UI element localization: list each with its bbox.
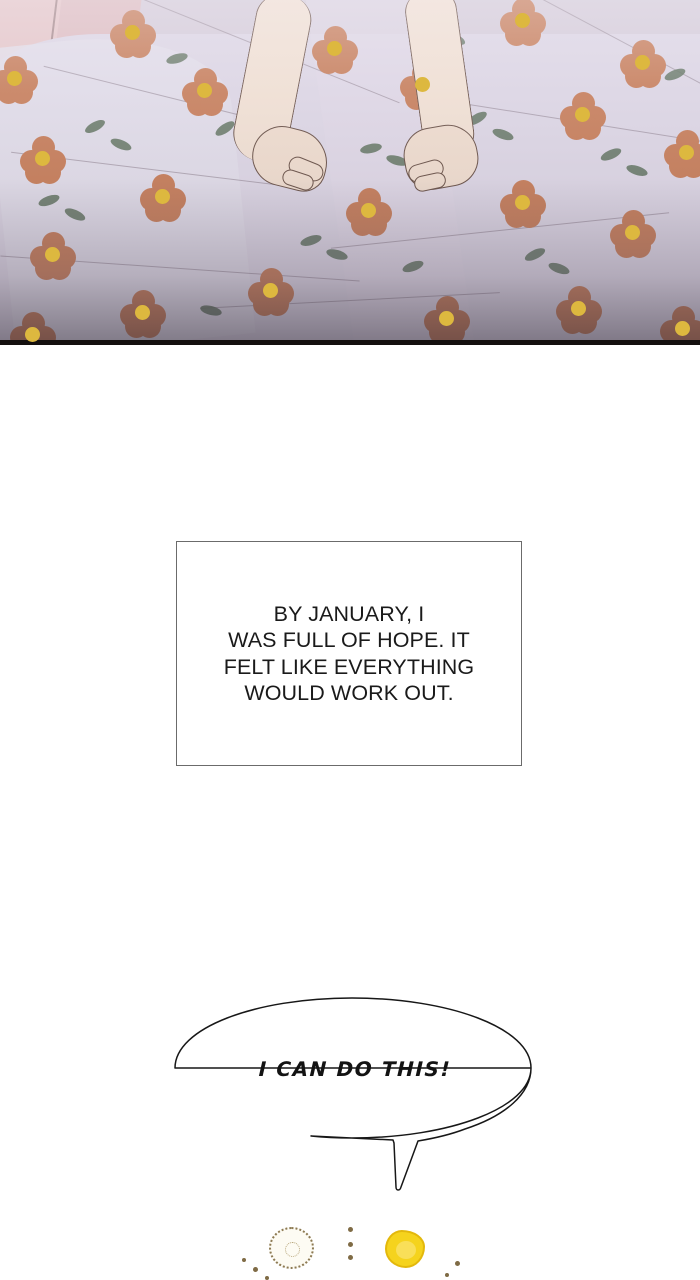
flower bbox=[664, 130, 700, 176]
flower bbox=[110, 10, 156, 56]
pale-daisy-icon bbox=[269, 1227, 314, 1269]
flower bbox=[30, 232, 76, 278]
webtoon-page: BY JANUARY, I WAS FULL OF HOPE. IT FELT … bbox=[0, 0, 700, 1280]
dialogue-text: I CAN DO THIS! bbox=[170, 1057, 541, 1081]
flower bbox=[556, 286, 602, 332]
dialogue-bubble: I CAN DO THIS! bbox=[170, 995, 540, 1200]
bottom-decorations bbox=[0, 1205, 700, 1280]
flower bbox=[248, 268, 294, 314]
flower bbox=[140, 174, 186, 220]
flower bbox=[500, 0, 546, 44]
sparkle-dot bbox=[348, 1242, 353, 1247]
sparkle-dot bbox=[348, 1255, 353, 1260]
sparkle-dot bbox=[445, 1273, 449, 1277]
sparkle-dot bbox=[455, 1261, 460, 1266]
flower bbox=[610, 210, 656, 256]
comic-art-panel bbox=[0, 0, 700, 345]
yellow-mimosa-icon bbox=[385, 1230, 425, 1268]
flower bbox=[312, 26, 358, 72]
flower bbox=[182, 68, 228, 114]
flower bbox=[620, 40, 666, 86]
flower bbox=[120, 290, 166, 336]
panel-bottom-border bbox=[0, 340, 700, 345]
flower bbox=[20, 136, 66, 182]
flower bbox=[424, 296, 470, 342]
flower bbox=[500, 180, 546, 226]
flower bbox=[346, 188, 392, 234]
narration-text: BY JANUARY, I WAS FULL OF HOPE. IT FELT … bbox=[214, 601, 485, 707]
speech-bubble-shape bbox=[170, 995, 540, 1200]
sparkle-dot bbox=[253, 1267, 258, 1272]
sparkle-dot bbox=[242, 1258, 246, 1262]
flower bbox=[0, 56, 38, 102]
narration-box: BY JANUARY, I WAS FULL OF HOPE. IT FELT … bbox=[176, 541, 522, 766]
sparkle-dot bbox=[265, 1276, 269, 1280]
sparkle-dot bbox=[348, 1227, 353, 1232]
flower bbox=[560, 92, 606, 138]
